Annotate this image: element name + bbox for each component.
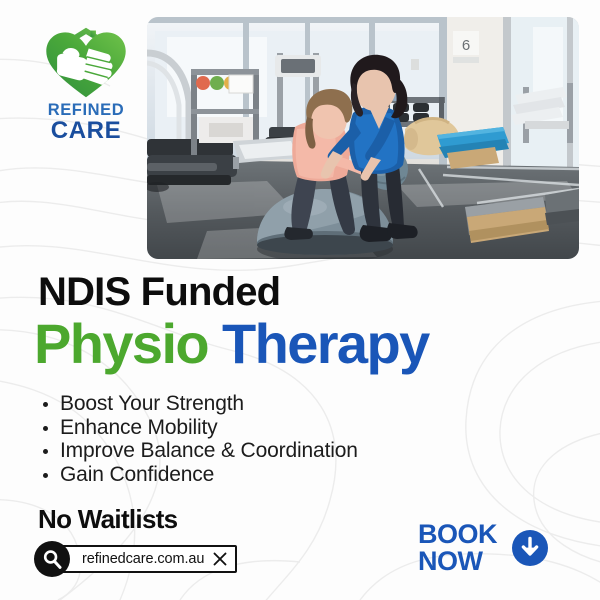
bullet-dot-icon <box>43 473 48 478</box>
hero-door-number: 6 <box>462 37 470 54</box>
list-item: Improve Balance & Coordination <box>38 439 358 463</box>
headline-main: Physio Therapy <box>34 316 429 372</box>
search-icon-glyph <box>41 548 63 570</box>
list-item-label: Improve Balance & Coordination <box>60 439 358 462</box>
headline-kicker: NDIS Funded <box>38 272 280 312</box>
list-item-label: Enhance Mobility <box>60 416 218 439</box>
website-search-bar[interactable]: refinedcare.com.au <box>34 541 237 577</box>
list-item: Boost Your Strength <box>38 392 358 416</box>
book-now-cta[interactable]: BOOK NOW <box>418 521 549 575</box>
bullet-dot-icon <box>43 426 48 431</box>
brand-logo[interactable]: REFINED CARE <box>30 26 142 143</box>
cta-line2: NOW <box>418 548 497 575</box>
brand-name-line2: CARE <box>30 119 142 143</box>
list-item-label: Gain Confidence <box>60 463 214 486</box>
bullet-dot-icon <box>43 449 48 454</box>
list-item: Gain Confidence <box>38 463 358 487</box>
search-icon[interactable] <box>34 541 70 577</box>
list-item: Enhance Mobility <box>38 416 358 440</box>
headline-word-therapy: Therapy <box>222 312 429 375</box>
no-waitlists-label: No Waitlists <box>38 506 177 532</box>
cta-line1: BOOK <box>418 521 497 548</box>
benefit-list: Boost Your Strength Enhance Mobility Imp… <box>38 392 358 486</box>
poster-canvas: REFINED CARE <box>0 0 600 600</box>
book-now-label: BOOK NOW <box>418 521 497 575</box>
bullet-dot-icon <box>43 402 48 407</box>
search-input[interactable]: refinedcare.com.au <box>56 545 237 573</box>
arrow-down-circle-icon[interactable] <box>511 529 549 567</box>
close-icon[interactable] <box>213 552 227 566</box>
hero-photo-illustration: 6 <box>147 17 579 259</box>
hero-photo: 6 <box>147 17 579 259</box>
headline-word-physio: Physio <box>34 312 208 375</box>
list-item-label: Boost Your Strength <box>60 392 244 415</box>
search-url-value: refinedcare.com.au <box>82 551 204 567</box>
heart-house-hands-icon <box>40 26 132 100</box>
